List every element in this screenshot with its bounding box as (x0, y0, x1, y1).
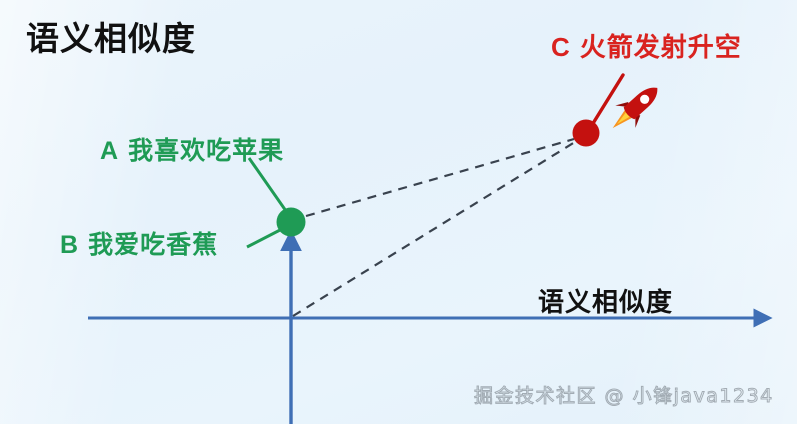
watermark-text: 掘金技术社区 @ 小锋java1234 (474, 381, 774, 408)
label-point-a-tag: A (100, 137, 119, 165)
label-point-b-tag: B (60, 231, 79, 259)
dashed-connector-green-red (306, 139, 574, 216)
label-point-b: B我爱吃香蕉 (60, 225, 218, 261)
semantic-similarity-diagram: 语义相似度 C火箭发射升空 A我喜欢吃苹果 B我爱吃香蕉 语义相似度 掘金技术社… (0, 0, 797, 424)
leader-line-c (592, 75, 623, 125)
x-axis-label: 语义相似度 (538, 282, 673, 319)
label-point-a-text: 我喜欢吃苹果 (128, 137, 284, 165)
rocket-icon (603, 77, 668, 139)
label-point-a: A我喜欢吃苹果 (100, 131, 284, 167)
label-point-b-text: 我爱吃香蕉 (88, 231, 218, 259)
page-title: 语义相似度 (26, 12, 196, 60)
label-point-c-tag: C (551, 32, 571, 62)
label-point-c: C火箭发射升空 (551, 27, 742, 64)
red-data-point[interactable] (573, 120, 600, 147)
dashed-connector-origin-red (293, 142, 575, 316)
leader-line-b (247, 229, 282, 247)
label-point-c-text: 火箭发射升空 (580, 32, 742, 62)
green-data-point[interactable] (277, 208, 306, 237)
